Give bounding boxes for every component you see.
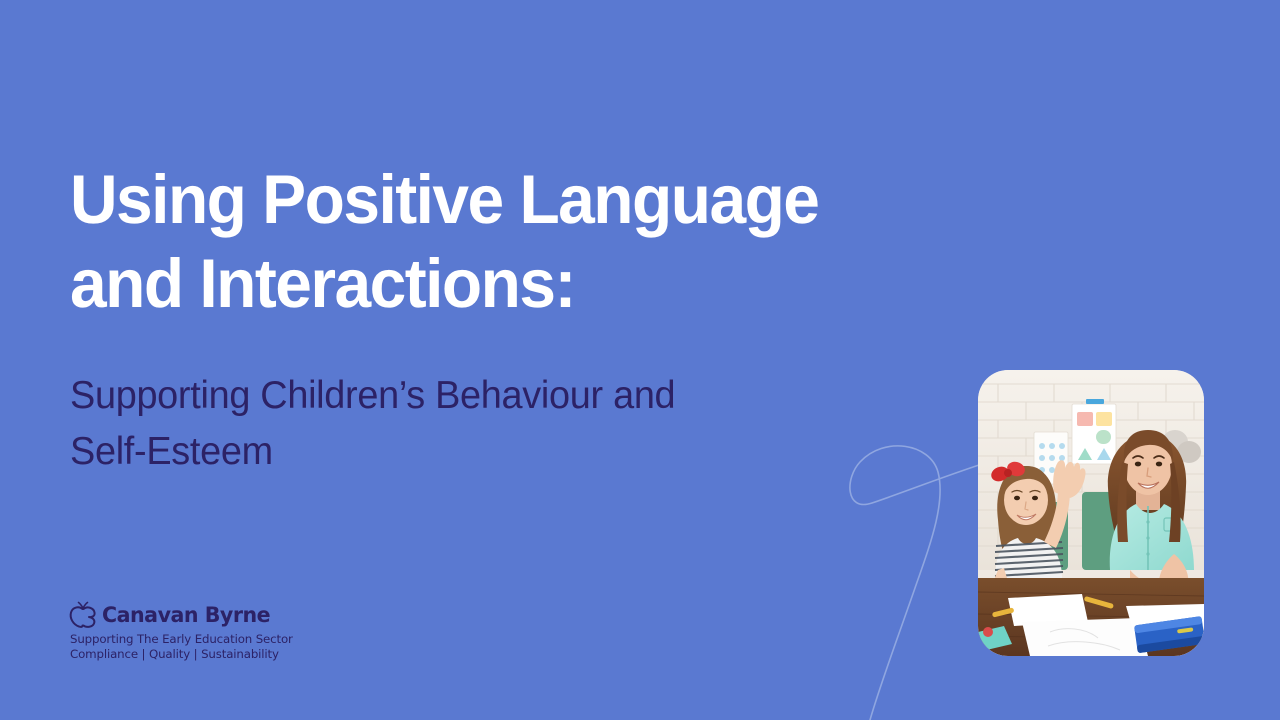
logo-wordmark: Canavan Byrne — [102, 604, 270, 626]
title-block: Using Positive Language and Interactions… — [70, 158, 930, 480]
hero-photo — [978, 370, 1204, 656]
logo-primary-row: Canavan Byrne — [68, 600, 283, 630]
slide-canvas: Using Positive Language and Interactions… — [0, 0, 1280, 720]
logo-tagline-secondary: Compliance | Quality | Sustainability — [68, 647, 283, 662]
brand-logo: Canavan Byrne Supporting The Early Educa… — [68, 600, 283, 662]
logo-tagline-primary: Supporting The Early Education Sector — [68, 632, 283, 647]
apple-outline-icon — [68, 601, 98, 629]
hero-photo-illustration — [978, 370, 1204, 656]
page-title: Using Positive Language and Interactions… — [70, 158, 891, 326]
page-subtitle: Supporting Children’s Behaviour and Self… — [70, 368, 904, 480]
